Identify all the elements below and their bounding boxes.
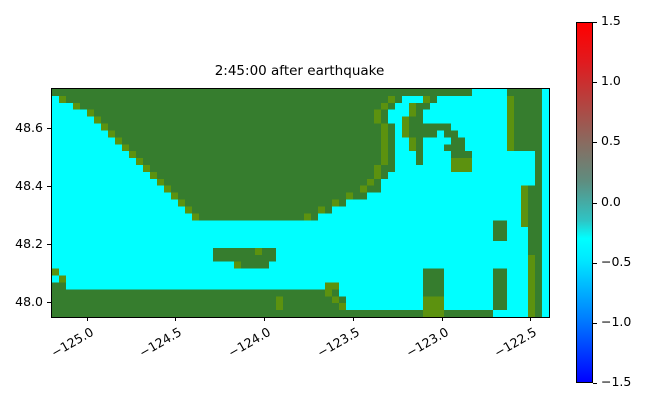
- x-tick-label: −124.5: [129, 325, 184, 364]
- colorbar-tick-mark: [593, 142, 597, 143]
- x-tick-mark: [175, 317, 176, 321]
- x-tick-mark: [442, 317, 443, 321]
- x-tick-mark: [353, 317, 354, 321]
- heatmap-plot-area: [51, 88, 550, 318]
- page-title: 2:45:00 after earthquake: [51, 62, 548, 80]
- y-tick-mark: [47, 302, 51, 303]
- y-tick-mark: [47, 128, 51, 129]
- y-tick-label: 48.6: [15, 122, 43, 134]
- x-tick-mark: [87, 317, 88, 321]
- colorbar-tick-mark: [593, 22, 597, 23]
- x-tick-label: −122.5: [484, 325, 539, 364]
- colorbar-tick-label: −1.0: [601, 316, 631, 328]
- colorbar-tick-label: 0.5: [601, 135, 621, 147]
- colorbar-tick-mark: [593, 82, 597, 83]
- colorbar-tick-mark: [593, 203, 597, 204]
- y-tick-mark: [47, 186, 51, 187]
- y-tick-mark: [47, 244, 51, 245]
- colorbar-tick-mark: [593, 383, 597, 384]
- colorbar-tick-label: −0.5: [601, 256, 631, 268]
- x-tick-mark: [264, 317, 265, 321]
- colorbar-tick-label: 1.0: [601, 75, 621, 87]
- matplotlib-figure: 2:45:00 after earthquake 48.048.248.448.…: [0, 0, 649, 411]
- heatmap-canvas: [52, 89, 549, 317]
- x-tick-label: −123.0: [396, 325, 451, 364]
- colorbar-tick-label: 0.0: [601, 196, 621, 208]
- y-tick-label: 48.4: [15, 180, 43, 192]
- colorbar-tick-mark: [593, 323, 597, 324]
- colorbar-tick-label: −1.5: [601, 376, 631, 388]
- x-tick-label: −124.0: [218, 325, 273, 364]
- colorbar-tick-mark: [593, 263, 597, 264]
- x-tick-label: −123.5: [307, 325, 362, 364]
- y-tick-label: 48.2: [15, 238, 43, 250]
- colorbar-tick-label: 1.5: [601, 15, 621, 27]
- x-tick-label: −125.0: [41, 325, 96, 364]
- x-tick-mark: [530, 317, 531, 321]
- colorbar-gradient: [576, 22, 593, 383]
- y-tick-label: 48.0: [15, 296, 43, 308]
- colorbar: [576, 22, 593, 383]
